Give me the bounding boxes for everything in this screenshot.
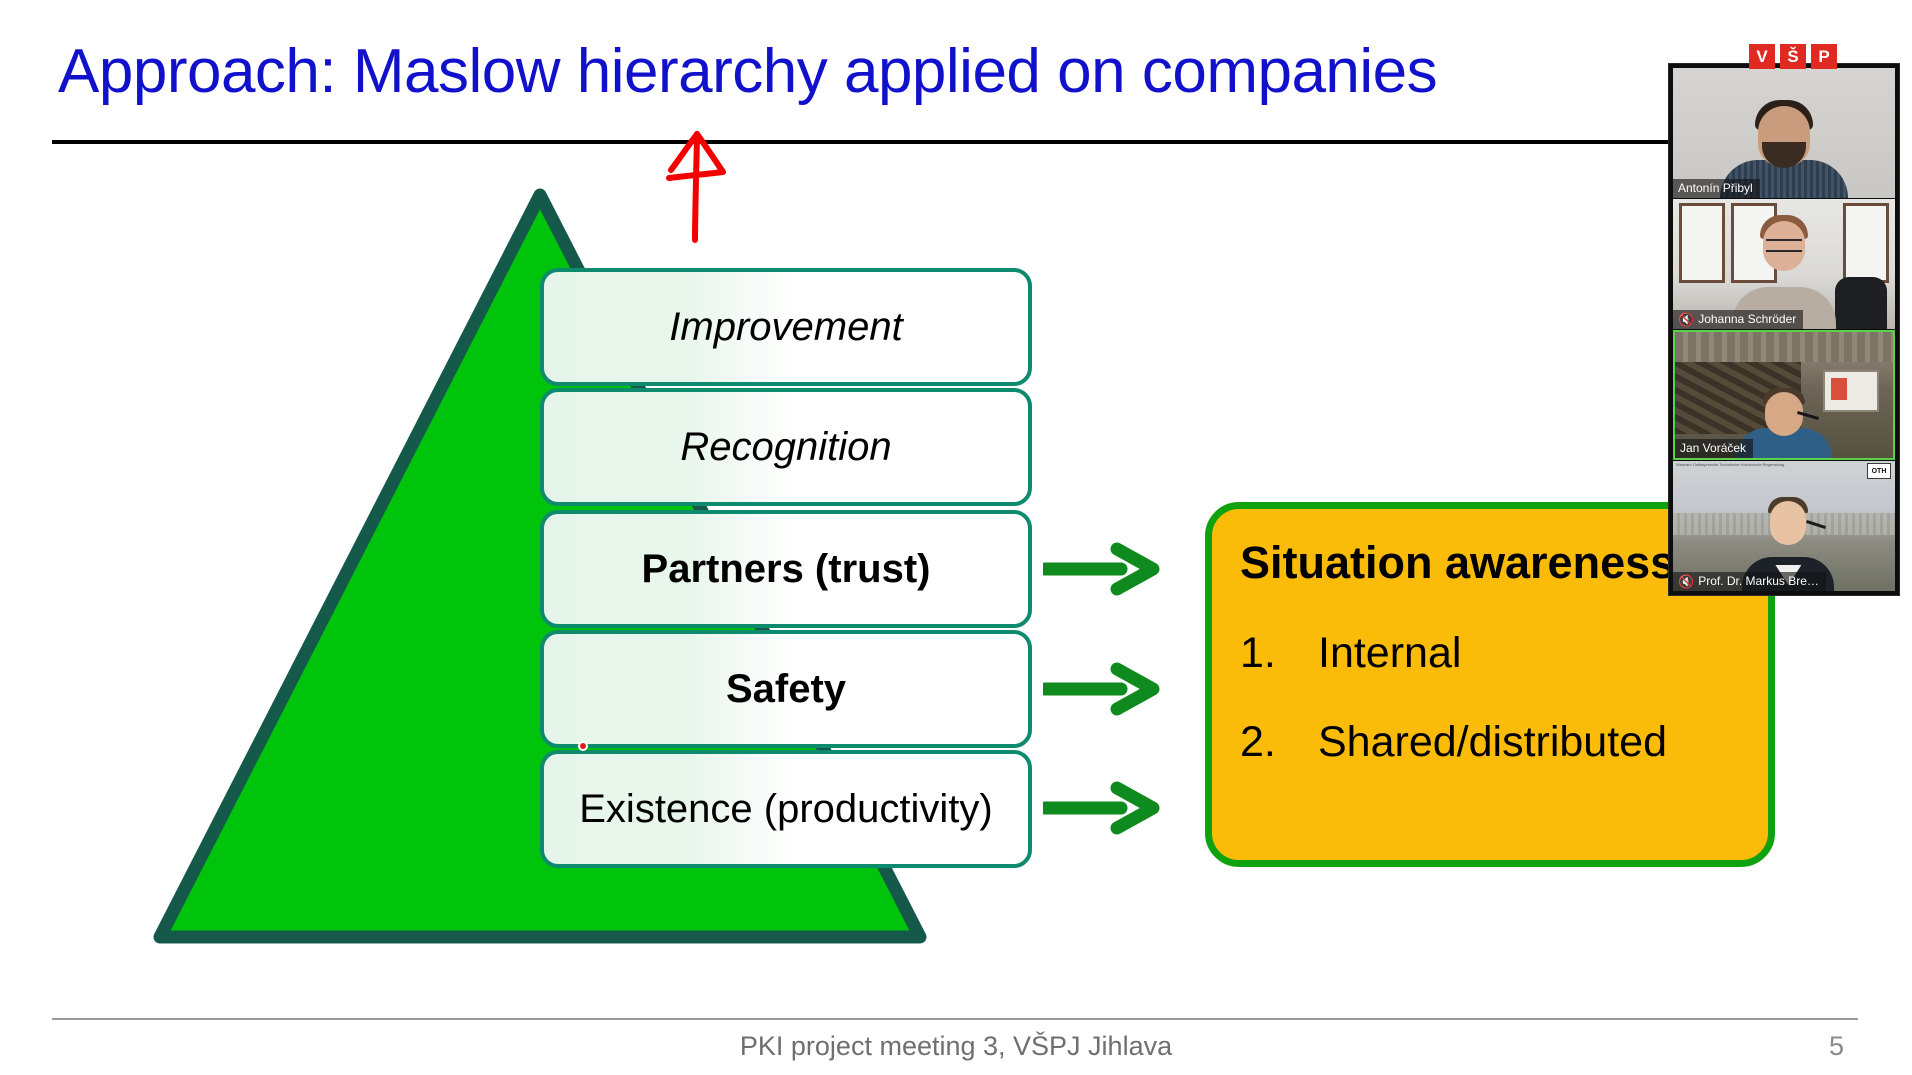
muted-microphone-icon: 🔇 [1678,313,1694,326]
list-item-label: Internal [1318,629,1461,678]
video-tile-participant-3[interactable]: Jan Voráček [1673,330,1895,460]
pyramid-level-existence[interactable]: Existence (productivity) [540,750,1032,868]
pyramid-level-improvement[interactable]: Improvement [540,268,1032,386]
callout-list: 1. Internal 2. Shared/distributed [1240,629,1768,767]
page-title: Approach: Maslow hierarchy applied on co… [58,36,1437,107]
participant-name: Jan Voráček [1680,441,1746,455]
list-item: 1. Internal [1240,629,1768,678]
participant-name: Antonín Přibyl [1678,181,1753,195]
page-number: 5 [1829,1031,1844,1062]
participant-name: Johanna Schröder [1698,312,1796,326]
participant-name-badge: Jan Voráček [1675,439,1753,458]
pyramid-level-label: Improvement [669,305,902,349]
list-item: 2. Shared/distributed [1240,718,1768,767]
logo-cell-s: Š [1780,44,1806,69]
logo-cell-v: V [1749,44,1775,69]
video-call-panel[interactable]: Antonín Přibyl 🔇 Johanna Schröder Jan Vo… [1668,63,1900,596]
list-item-number: 1. [1240,629,1318,678]
list-item-label: Shared/distributed [1318,718,1667,767]
video-tile-participant-4[interactable]: Webcam Ostbayerische Technische Hochschu… [1673,461,1895,591]
participant-name-badge: 🔇 Johanna Schröder [1673,310,1803,329]
participant-name: Prof. Dr. Markus Bre… [1698,574,1819,588]
hand-drawn-up-arrow-icon [655,118,775,243]
pyramid-level-label: Safety [726,667,846,711]
right-arrow-icon [1043,780,1168,836]
pyramid-level-label: Recognition [680,425,891,469]
logo-cell-p: P [1811,44,1837,69]
list-item-number: 2. [1240,718,1318,767]
presentation-slide: Approach: Maslow hierarchy applied on co… [0,0,1912,1075]
pyramid-level-label: Partners (trust) [642,547,931,591]
video-tile-participant-1[interactable]: Antonín Přibyl [1673,68,1895,198]
footer-text: PKI project meeting 3, VŠPJ Jihlava [0,1031,1912,1062]
pyramid-level-partners[interactable]: Partners (trust) [540,510,1032,628]
vsp-logo: V Š P [1749,44,1837,69]
muted-microphone-icon: 🔇 [1678,575,1694,588]
pyramid-level-label: Existence (productivity) [579,787,992,831]
right-arrow-icon [1043,661,1168,717]
video-tile-participant-2[interactable]: 🔇 Johanna Schröder [1673,199,1895,329]
footer-divider [52,1018,1858,1020]
pyramid-level-recognition[interactable]: Recognition [540,388,1032,506]
title-divider [52,140,1858,144]
red-marker-dot [578,741,588,751]
participant-name-badge: Antonín Přibyl [1673,179,1760,198]
right-arrow-icon [1043,541,1168,597]
participant-name-badge: 🔇 Prof. Dr. Markus Bre… [1673,572,1826,591]
pyramid-level-safety[interactable]: Safety [540,630,1032,748]
